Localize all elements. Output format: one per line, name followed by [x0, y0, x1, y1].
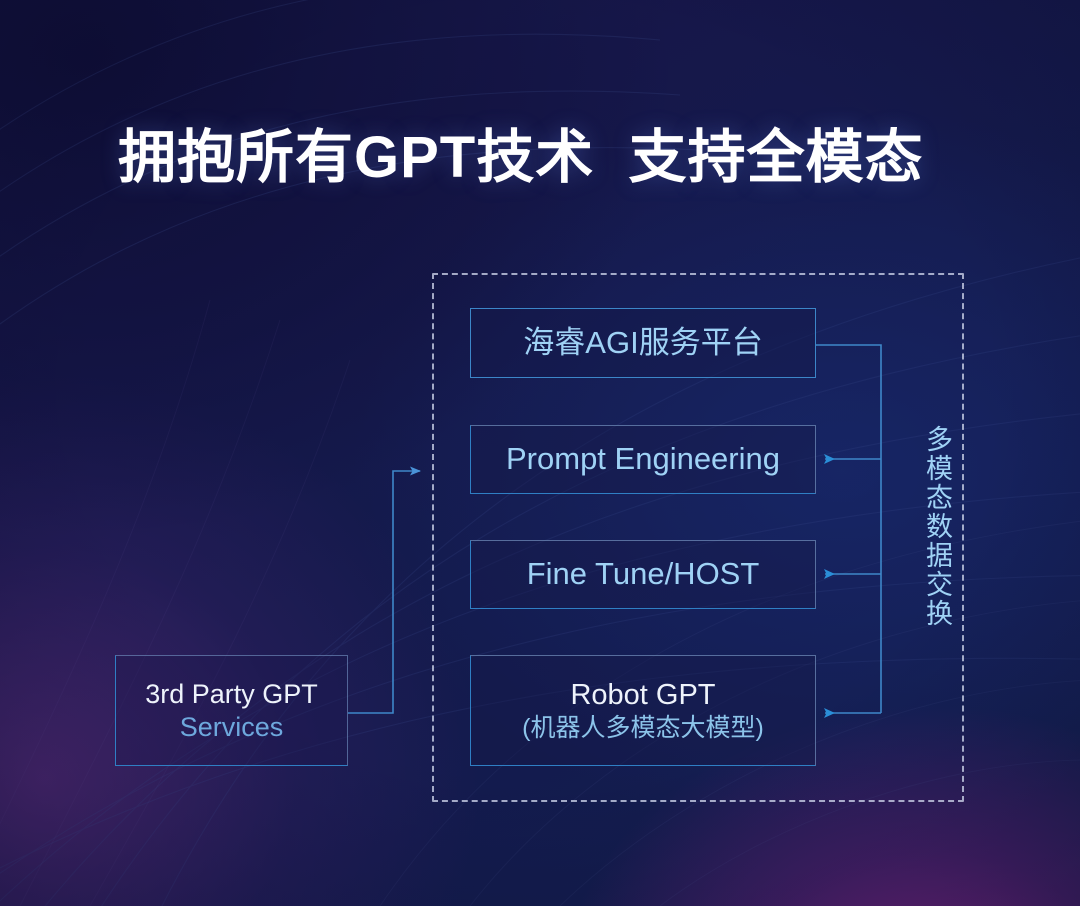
slide-canvas: 拥抱所有GPT技术 支持全模态 海睿AGI服务平台	[0, 0, 1080, 906]
box-robot-gpt-sublabel: (机器人多模态大模型)	[522, 714, 764, 742]
box-agi-platform[interactable]: 海睿AGI服务平台	[470, 308, 816, 378]
box-fine-tune-host-label: Fine Tune/HOST	[527, 557, 760, 592]
box-robot-gpt[interactable]: Robot GPT (机器人多模态大模型)	[470, 655, 816, 766]
box-agi-platform-label: 海睿AGI服务平台	[523, 326, 762, 361]
page-title: 拥抱所有GPT技术 支持全模态	[118, 110, 923, 194]
box-robot-gpt-label: Robot GPT	[570, 679, 715, 711]
box-third-party-gpt[interactable]: 3rd Party GPT Services	[115, 655, 348, 766]
box-third-party-gpt-label: 3rd Party GPT	[145, 679, 318, 709]
box-third-party-gpt-sublabel: Services	[180, 712, 284, 742]
box-fine-tune-host[interactable]: Fine Tune/HOST	[470, 540, 816, 609]
box-prompt-engineering[interactable]: Prompt Engineering	[470, 425, 816, 494]
region-label-vertical: 多模态数据交换	[912, 425, 952, 628]
box-prompt-engineering-label: Prompt Engineering	[506, 442, 780, 477]
